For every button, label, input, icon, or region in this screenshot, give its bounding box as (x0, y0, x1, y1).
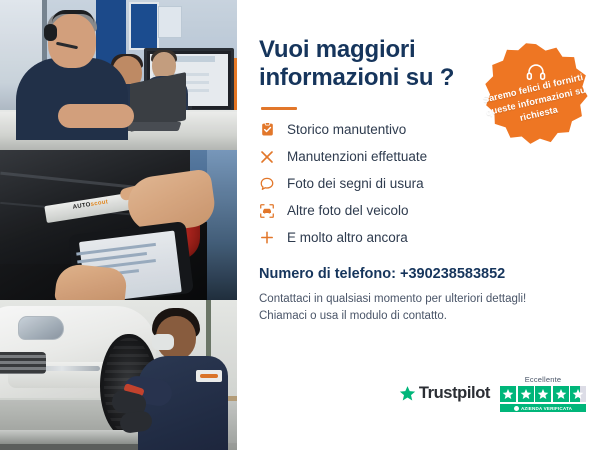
headset-icon (526, 63, 546, 81)
feature-item-molto-altro-ancora: E molto altro ancora (259, 230, 578, 246)
feature-item-altre-foto-veicolo: Altre foto del veicolo (259, 203, 578, 219)
trustpilot-star-icon (399, 385, 416, 402)
worker-1-headset-cup (44, 24, 57, 41)
star-filled (518, 386, 534, 402)
mechanic-face-mask (152, 334, 174, 350)
speech-bubble-icon (259, 176, 275, 192)
rating-label: Eccellente (500, 375, 586, 384)
title-divider (261, 107, 297, 110)
plus-icon (259, 230, 275, 246)
phone-number[interactable]: Numero di telefono: +390238583852 (259, 266, 578, 282)
trustpilot-logo: Trustpilot (399, 384, 490, 403)
feature-item-foto-segni-usura: Foto dei segni di usura (259, 176, 578, 192)
rating-stars (500, 386, 586, 402)
mechanic-uniform-badge (196, 370, 222, 382)
trustpilot-brand-label: Trustpilot (419, 384, 490, 403)
worker-1-headset-band (52, 10, 94, 23)
feature-label: Altre foto del veicolo (287, 203, 409, 218)
promo-banner: AUTOscout (0, 0, 600, 450)
car-headlight (18, 316, 64, 340)
garage-wheel-photo (0, 300, 237, 450)
wrench-cross-icon (259, 149, 275, 165)
wall-poster-secondary (158, 6, 182, 38)
contact-line-1: Contattaci in qualsiasi momento per ulte… (259, 291, 578, 309)
star-filled (553, 386, 569, 402)
vehicle-lift-shadow (0, 444, 150, 450)
star-partial (570, 386, 586, 402)
feature-item-manutenzioni-effettuate: Manutenzioni effettuate (259, 149, 578, 165)
car-frame-icon (259, 203, 275, 219)
clipboard-check-icon (259, 122, 275, 138)
contact-line-2: Chiamaci o usa il modulo di contatto. (259, 308, 578, 326)
verified-badge: AZIENDA VERIFICATA (500, 404, 586, 412)
check-icon (514, 406, 519, 411)
feature-label: Storico manutentivo (287, 122, 406, 137)
star-filled (500, 386, 516, 402)
verified-label: AZIENDA VERIFICATA (521, 406, 572, 411)
trustpilot-rating: Eccellente (500, 375, 586, 412)
star-filled (535, 386, 551, 402)
wall-poster (129, 2, 159, 50)
ruler-brand-text: AUTOscout (72, 199, 108, 210)
page-title: Vuoi maggiori informazioni su ? (259, 36, 459, 93)
vehicle-inspection-photo: AUTOscout (0, 150, 237, 300)
content-panel: Vuoi maggiori informazioni su ? Storico … (237, 0, 600, 450)
photo-strip: AUTOscout (0, 0, 237, 450)
background-blue-edge (207, 150, 237, 300)
feature-label: Foto dei segni di usura (287, 176, 424, 191)
call-center-photo (0, 0, 237, 150)
trustpilot-widget[interactable]: Trustpilot Eccellente (399, 375, 586, 412)
feature-label: Manutenzioni effettuate (287, 149, 427, 164)
callout-badge: Saremo felici di fornirti queste informa… (484, 42, 588, 146)
car-grille (0, 352, 46, 374)
feature-label: E molto altro ancora (287, 230, 408, 245)
worker-1-arm (58, 104, 134, 128)
contact-text: Contattaci in qualsiasi momento per ulte… (259, 291, 578, 327)
